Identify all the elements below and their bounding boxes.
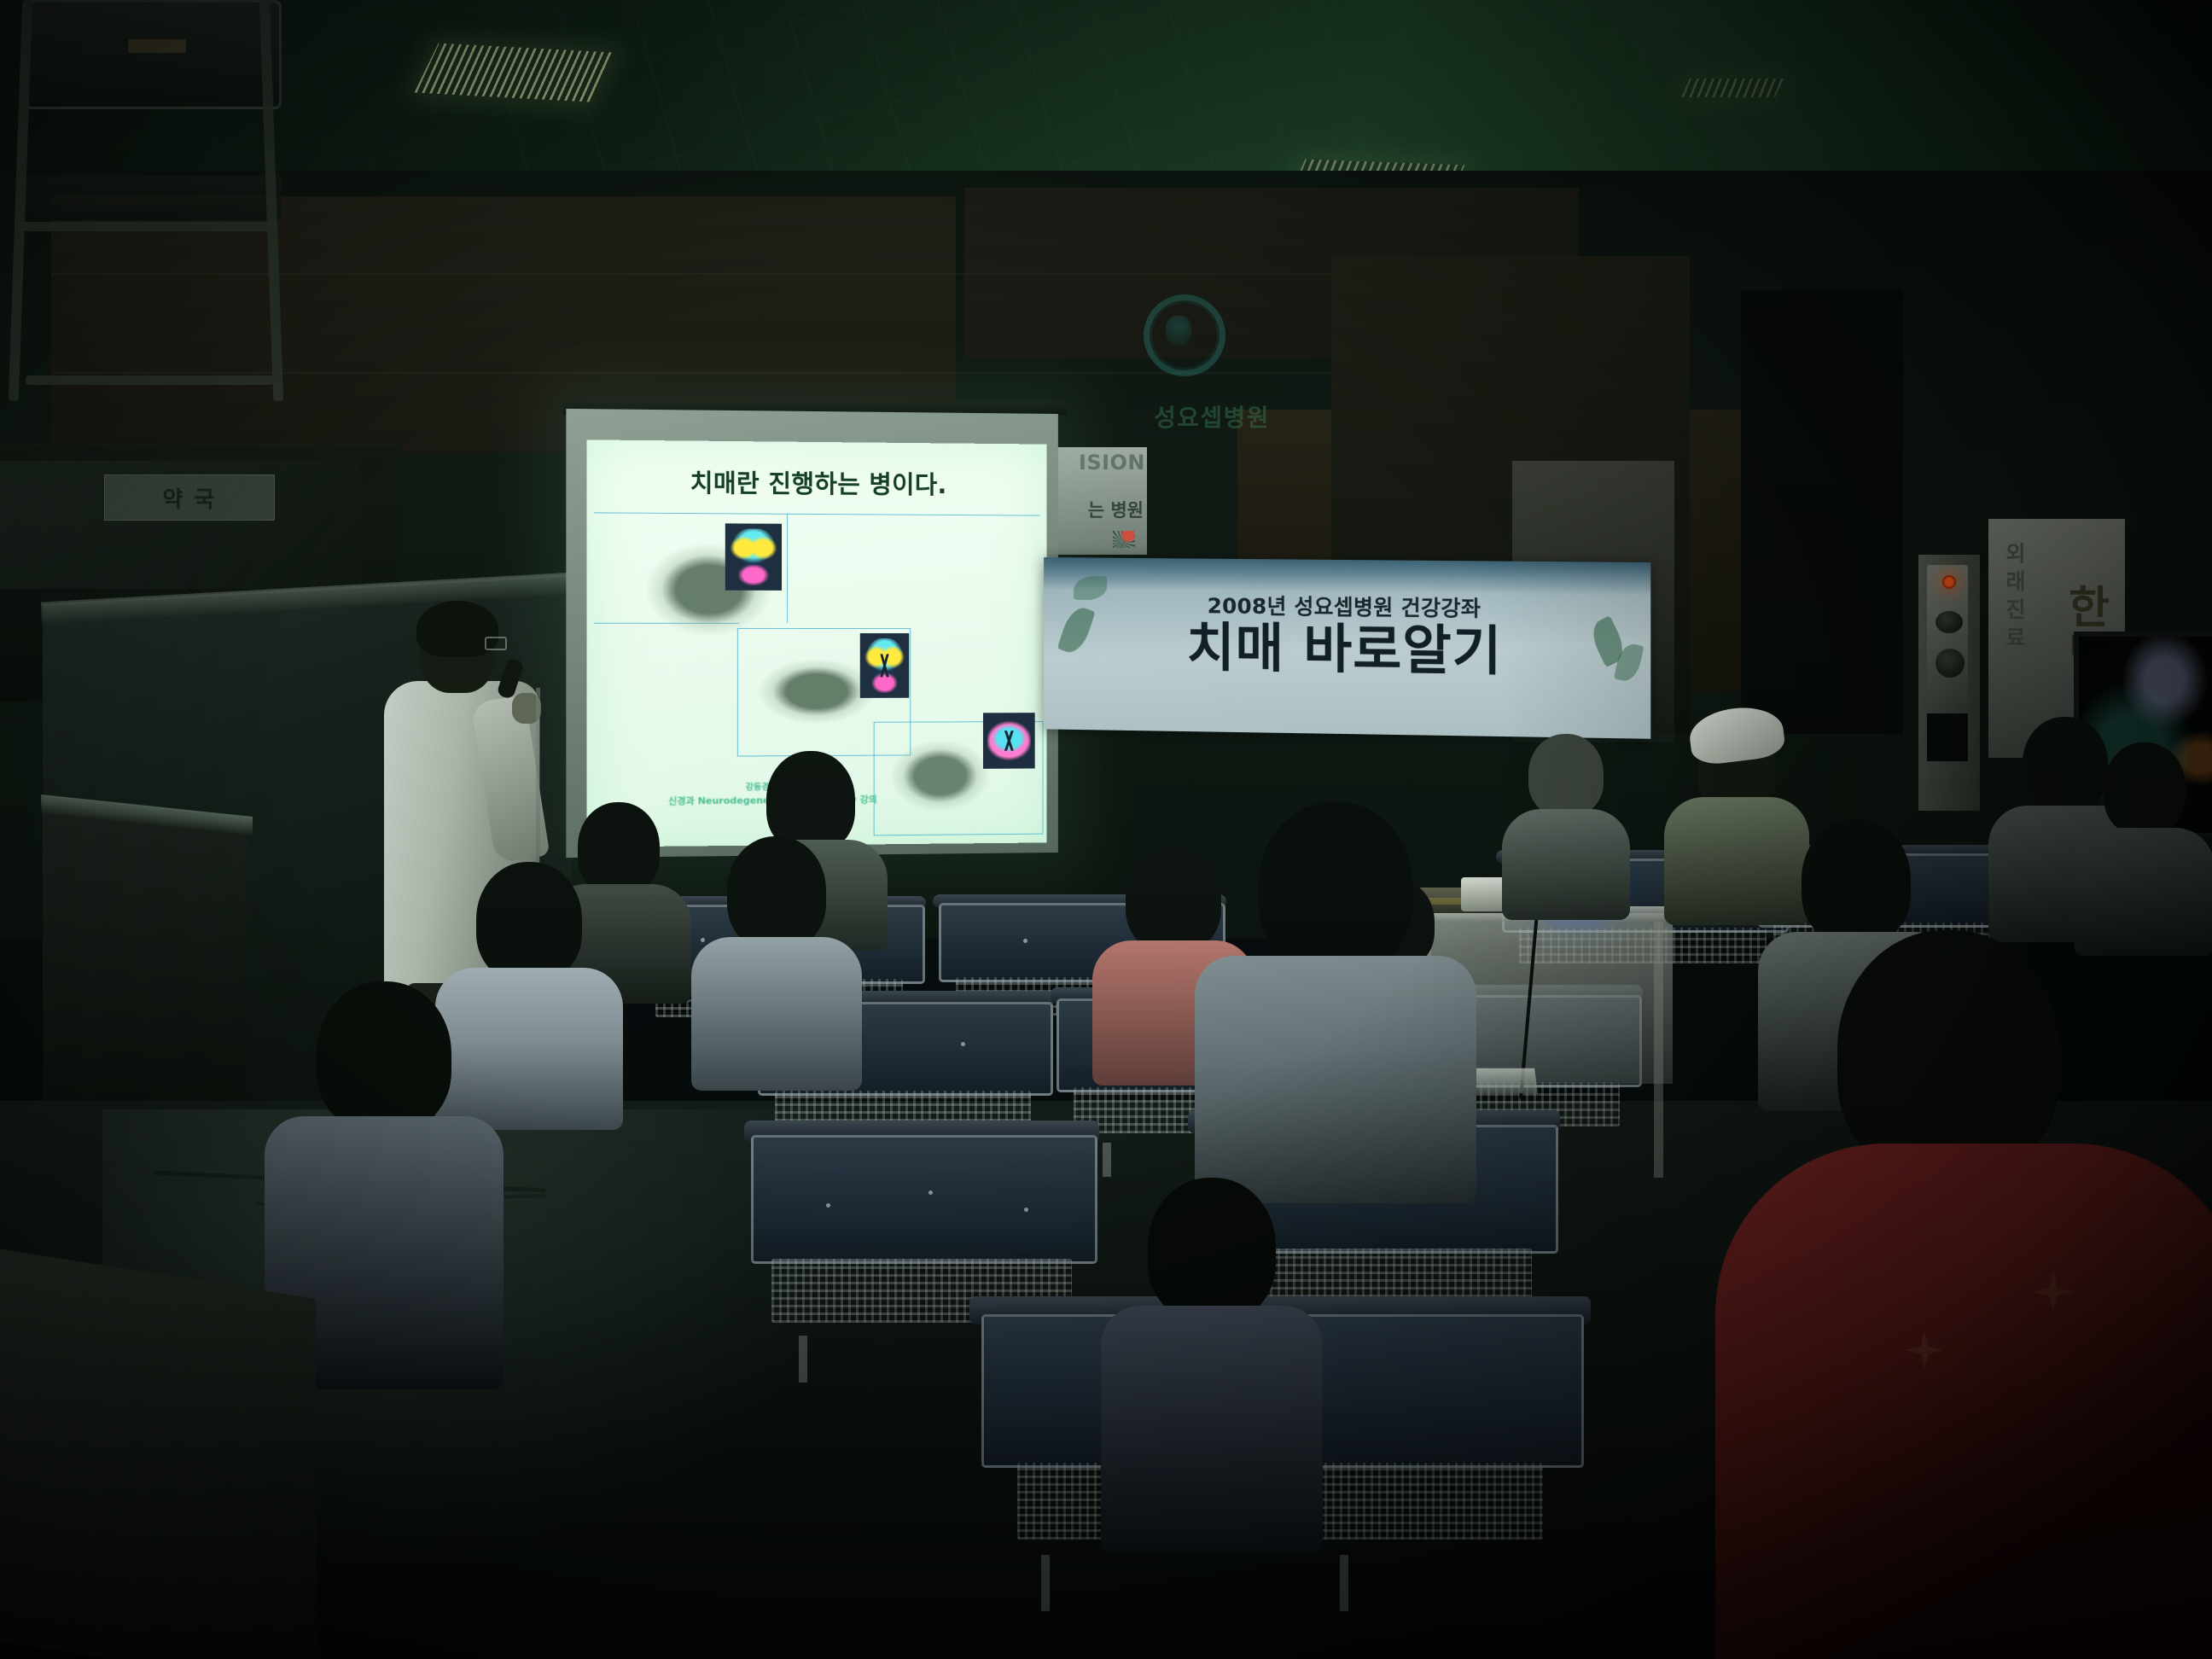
- slide-grid-line: [594, 512, 1040, 515]
- pet-scan-axial-x-icon: [860, 633, 909, 698]
- banner-title: 치매 바로알기: [1044, 618, 1650, 681]
- slide-grid-line: [787, 514, 788, 623]
- attendee-head: [1837, 742, 1918, 831]
- attendee-head: [1148, 1178, 1276, 1321]
- bench-leg: [1103, 1143, 1111, 1177]
- hospital-name-sign: 성요셉병원: [1118, 399, 1306, 434]
- folding-chair-seat: [15, 176, 282, 220]
- slide-title: 치매란 진행하는 병이다.: [587, 463, 1047, 502]
- pharmacy-sign-label: 약 국: [162, 482, 216, 514]
- kiosk-knob-icon[interactable]: [1935, 611, 1963, 633]
- attendee-torso: [1715, 1144, 2212, 1659]
- vertical-sign-column-text: 외래진료: [2000, 539, 2031, 652]
- bench-stud: [1023, 939, 1027, 943]
- attendee-head: [1528, 734, 1604, 816]
- event-banner: 2008년 성요셉병원 건강강좌 치매 바로알기: [1044, 557, 1650, 739]
- brain-slice-illustration: [757, 658, 876, 725]
- av-trolley-leg: [1654, 922, 1663, 1178]
- pet-scan-coronal-icon: [725, 523, 782, 591]
- attendee-head: [476, 862, 582, 981]
- flower-logo-icon: [1113, 531, 1135, 548]
- dark-doorway: [1741, 290, 1903, 734]
- kiosk-knob-icon[interactable]: [1935, 649, 1965, 678]
- attendee-red-jacket: [1715, 930, 2212, 1659]
- attendee-torso: [1195, 956, 1476, 1203]
- eyeglasses-icon: [485, 637, 507, 650]
- lecture-hall-photo: 약 국 성요셉병원 ISION 는 병원 치매란 진행하는 병이다. 강동경희대…: [0, 0, 2212, 1659]
- bench-stud: [826, 1203, 830, 1208]
- attendee-head: [1259, 802, 1412, 973]
- attendee-head: [1802, 819, 1911, 944]
- attendee-torso: [1101, 1306, 1323, 1553]
- recessed-ceiling-light-icon: [415, 43, 614, 102]
- attendee-front-left-blue: [1101, 1178, 1323, 1536]
- recessed-ceiling-light-icon: [1681, 79, 1784, 97]
- pet-scan-axial-blue-icon: [983, 713, 1035, 769]
- bench-leg: [1340, 1555, 1348, 1611]
- attendee-torso: [691, 937, 862, 1091]
- attendee-edge-right: [2074, 742, 2212, 947]
- bench-back: [751, 1135, 1097, 1264]
- chair-cross-brace: [20, 222, 276, 231]
- bench-stud: [1024, 1208, 1028, 1212]
- folding-chair-back: [22, 0, 282, 109]
- bench-stud: [928, 1190, 933, 1195]
- ceiling: [0, 0, 2212, 196]
- vision-poster: ISION 는 병원: [1043, 447, 1147, 555]
- folding-chair-badge: [128, 39, 186, 53]
- bench-stud: [961, 1042, 965, 1046]
- attendee-center-grey: [1195, 802, 1476, 1178]
- attendee-grey-haired: [1502, 734, 1630, 905]
- attendee-torso: [1502, 809, 1630, 920]
- bench-leg: [1041, 1555, 1050, 1611]
- chair-cross-brace: [26, 375, 273, 385]
- bench-leg: [799, 1336, 807, 1382]
- foreground-desk: [0, 1248, 316, 1659]
- attendee-head: [317, 981, 451, 1132]
- attendee-center-left: [691, 836, 862, 1075]
- poster-vision-text: ISION: [1045, 451, 1145, 474]
- hospital-emblem-inner-icon: [1166, 316, 1191, 346]
- pharmacy-sign: 약 국: [104, 474, 275, 521]
- attendee-head: [1837, 930, 2059, 1178]
- attendee-head: [2104, 742, 2186, 835]
- status-led-icon: [1942, 575, 1956, 589]
- attendee-head: [727, 836, 826, 949]
